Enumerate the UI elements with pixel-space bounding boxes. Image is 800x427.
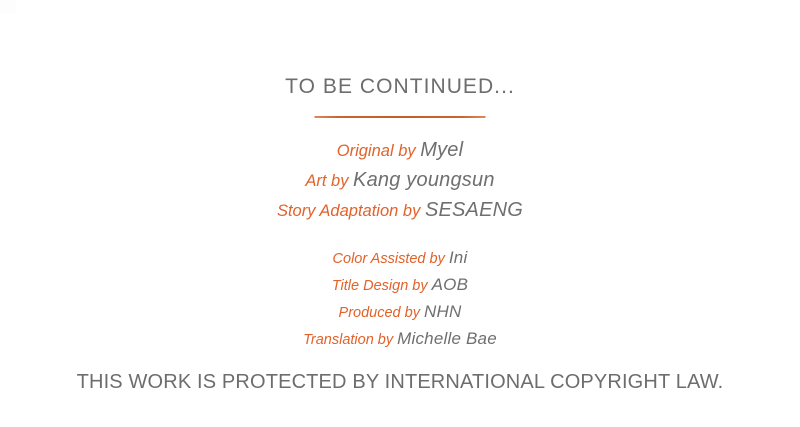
credit-name: Ini — [449, 248, 468, 267]
credit-role: Story Adaptation by — [277, 202, 420, 220]
credit-name: Kang youngsun — [353, 169, 495, 191]
credit-name: SESAENG — [425, 199, 523, 221]
end-credits-page: TO BE CONTINUED... Original by Myel Art … — [0, 0, 800, 427]
credit-line: Title Design by AOB — [0, 272, 800, 299]
credit-line: Original by Myel — [0, 136, 800, 166]
page-title: TO BE CONTINUED... — [0, 74, 800, 100]
credits-block-secondary: Color Assisted by Ini Title Design by AO… — [0, 245, 800, 353]
credit-line: Story Adaptation by SESAENG — [0, 196, 800, 226]
credit-line: Produced by NHN — [0, 299, 800, 326]
credit-name: Michelle Bae — [397, 329, 497, 348]
credit-role: Title Design by — [332, 278, 428, 294]
credit-role: Art by — [305, 172, 348, 190]
credit-name: AOB — [432, 275, 469, 294]
credit-name: Myel — [420, 139, 463, 161]
credit-line: Color Assisted by Ini — [0, 245, 800, 272]
copyright-notice: THIS WORK IS PROTECTED BY INTERNATIONAL … — [0, 370, 800, 394]
credit-name: NHN — [424, 302, 461, 321]
divider-rule — [315, 116, 486, 118]
credits-block-primary: Original by Myel Art by Kang youngsun St… — [0, 136, 800, 226]
credit-role: Color Assisted by — [333, 251, 445, 267]
credit-line: Art by Kang youngsun — [0, 166, 800, 196]
corner-tint — [0, 0, 16, 13]
credit-role: Produced by — [339, 305, 420, 321]
credit-role: Translation by — [303, 332, 393, 348]
credit-line: Translation by Michelle Bae — [0, 326, 800, 353]
credit-role: Original by — [337, 142, 416, 160]
